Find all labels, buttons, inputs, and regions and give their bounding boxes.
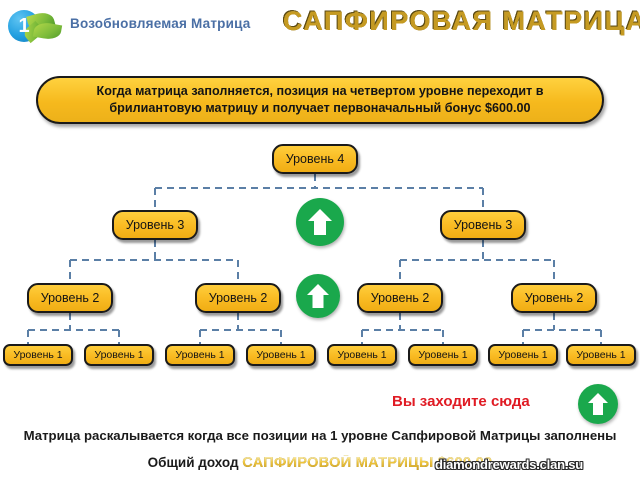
footer-note: Матрица раскалывается когда все позиции … <box>0 428 640 443</box>
node-level-2-2[interactable]: Уровень 2 <box>195 283 281 313</box>
node-label: Уровень 2 <box>41 291 100 305</box>
node-level-1-8[interactable]: Уровень 1 <box>566 344 636 366</box>
brand-logo: 1 <box>8 9 66 43</box>
node-level-3-right[interactable]: Уровень 3 <box>440 210 526 240</box>
node-level-1-3[interactable]: Уровень 1 <box>165 344 235 366</box>
node-label: Уровень 2 <box>525 291 584 305</box>
node-label: Уровень 2 <box>371 291 430 305</box>
node-label: Уровень 1 <box>256 349 305 361</box>
site-watermark: diamondrewards.clan.su <box>435 457 583 472</box>
page-header: 1 Возобновляемая Матрица САПФИРОВАЯ МАТР… <box>0 0 640 52</box>
node-label: Уровень 1 <box>94 349 143 361</box>
node-level-1-7[interactable]: Уровень 1 <box>488 344 558 366</box>
up-arrow-icon-level2 <box>296 274 340 318</box>
node-level-1-4[interactable]: Уровень 1 <box>246 344 316 366</box>
node-level-1-5[interactable]: Уровень 1 <box>327 344 397 366</box>
node-label: Уровень 4 <box>286 152 345 166</box>
logo-digit: 1 <box>8 10 40 42</box>
node-level-2-1[interactable]: Уровень 2 <box>27 283 113 313</box>
node-level-1-2[interactable]: Уровень 1 <box>84 344 154 366</box>
node-level-4[interactable]: Уровень 4 <box>272 144 358 174</box>
node-level-1-1[interactable]: Уровень 1 <box>3 344 73 366</box>
node-label: Уровень 2 <box>209 291 268 305</box>
footer-total-prefix: Общий доход <box>148 455 243 470</box>
node-level-2-4[interactable]: Уровень 2 <box>511 283 597 313</box>
node-label: Уровень 3 <box>454 218 513 232</box>
node-level-2-3[interactable]: Уровень 2 <box>357 283 443 313</box>
info-banner: Когда матрица заполняется, позиция на че… <box>36 76 604 124</box>
page-title: САПФИРОВАЯ МАТРИЦА <box>283 6 635 37</box>
node-level-1-6[interactable]: Уровень 1 <box>408 344 478 366</box>
node-label: Уровень 1 <box>418 349 467 361</box>
entry-point-label: Вы заходите сюда <box>392 393 530 410</box>
node-label: Уровень 1 <box>175 349 224 361</box>
up-arrow-icon-level3 <box>296 198 344 246</box>
matrix-tree: Уровень 4 Уровень 3 Уровень 3 Уровень 2 … <box>0 130 640 380</box>
node-label: Уровень 1 <box>13 349 62 361</box>
node-label: Уровень 3 <box>126 218 185 232</box>
brand-text: Возобновляемая Матрица <box>70 16 250 31</box>
node-label: Уровень 1 <box>498 349 547 361</box>
info-banner-text: Когда матрица заполняется, позиция на че… <box>52 83 588 117</box>
node-label: Уровень 1 <box>337 349 386 361</box>
node-label: Уровень 1 <box>576 349 625 361</box>
node-level-3-left[interactable]: Уровень 3 <box>112 210 198 240</box>
up-arrow-icon-entry <box>578 384 618 424</box>
